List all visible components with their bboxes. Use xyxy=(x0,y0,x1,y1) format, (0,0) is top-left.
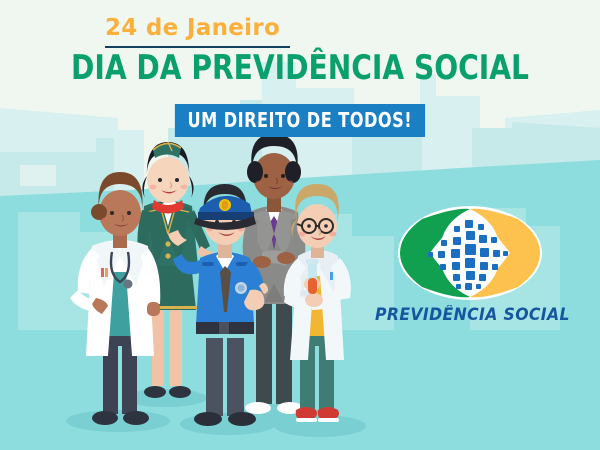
poster-canvas: 24 de Janeiro DIA DA PREVIDÊNCIA SOCIAL … xyxy=(0,0,600,450)
previdencia-social-logo: PREVIDÊNCIA SOCIAL xyxy=(370,205,570,340)
logo-wordmark: PREVIDÊNCIA SOCIAL xyxy=(375,305,565,324)
logo-emblem-icon xyxy=(370,205,570,305)
